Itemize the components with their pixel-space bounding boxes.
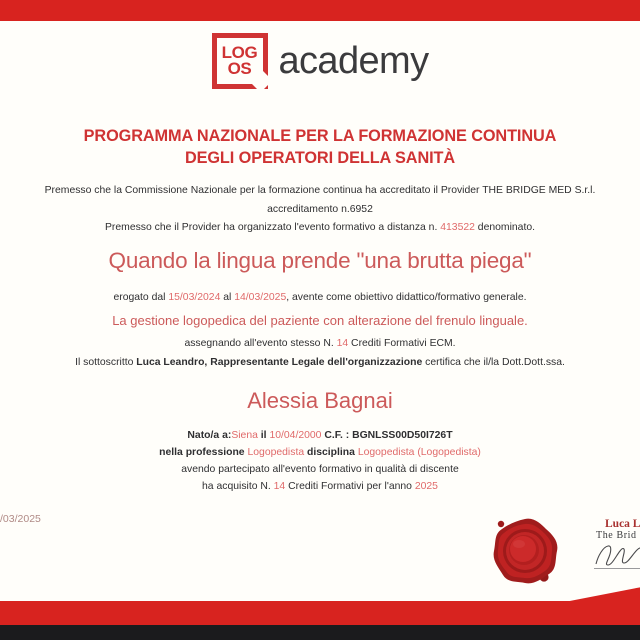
issue-date: /03/2025 (0, 513, 41, 525)
certificate-page: LOG OS academy PROGRAMMA NAZIONALE PER L… (0, 0, 640, 640)
born-on-label: il (258, 430, 270, 441)
acquired-credits: 14 (274, 481, 286, 492)
preamble-text: Premesso che la Commissione Nazionale pe… (0, 182, 640, 238)
signatory-suffix: certifica che il/la Dott.Dott.ssa. (422, 357, 565, 368)
heading-line-2: DEGLI OPERATORI DELLA SANITÀ (0, 148, 640, 170)
signature-organization: The Brid (594, 530, 640, 541)
discipline-value: Logopedista (Logopedista) (358, 447, 481, 458)
heading-line-1: PROGRAMMA NAZIONALE PER LA FORMAZIONE CO… (0, 126, 640, 148)
top-red-band (0, 0, 640, 21)
event-end-date: 14/03/2025 (234, 292, 286, 303)
signature-block: Luca L The Brid (594, 518, 640, 569)
recipient-profession-line: nella professione Logopedista disciplina… (0, 445, 640, 462)
born-label: Nato/a a: (187, 430, 231, 441)
logo-notch (248, 68, 272, 92)
event-objective: La gestione logopedica del paziente con … (0, 313, 640, 328)
erogato-after: , avente come obiettivo didattico/format… (286, 292, 526, 303)
event-title: Quando la lingua prende "una brutta pieg… (0, 248, 640, 274)
handwritten-signature-icon (594, 542, 640, 568)
preamble-line-3: Premesso che il Provider ha organizzato … (0, 219, 640, 238)
signatory-statement: Il sottoscritto Luca Leandro, Rappresent… (0, 357, 640, 368)
acquired-middle: Crediti Formativi per l'anno (285, 481, 415, 492)
certificate-paper (0, 21, 640, 601)
cf-label: C.F. : (321, 430, 352, 441)
brand-logo: LOG OS academy (0, 33, 640, 89)
credits-before: assegnando all'evento stesso N. (184, 338, 336, 349)
logo-mark-line2: OS (228, 61, 252, 77)
erogato-before: erogato dal (113, 292, 168, 303)
recipient-acquired-line: ha acquisito N. 14 Crediti Formativi per… (0, 479, 640, 496)
preamble-line-3-before: Premesso che il Provider ha organizzato … (105, 222, 440, 233)
recipient-details: Nato/a a:Siena il 10/04/2000 C.F. : BGNL… (0, 428, 640, 495)
signatory-name-role: Luca Leandro, Rappresentante Legale dell… (136, 357, 422, 368)
profession-value: Logopedista (247, 447, 304, 458)
acquired-year: 2025 (415, 481, 438, 492)
signature-name: Luca L (594, 518, 640, 530)
event-number: 413522 (440, 222, 475, 233)
recipient-name: Alessia Bagnai (0, 388, 640, 414)
event-start-date: 15/03/2024 (168, 292, 220, 303)
signature-rule (594, 568, 640, 569)
event-credits-line: assegnando all'evento stesso N. 14 Credi… (0, 338, 640, 349)
logos-mark-icon: LOG OS (212, 33, 268, 89)
signatory-prefix: Il sottoscritto (75, 357, 136, 368)
bottom-red-band (0, 601, 640, 625)
cf-value: BGNLSS00D50I726T (352, 430, 453, 441)
wax-seal-icon (489, 515, 561, 587)
erogato-middle: al (220, 292, 234, 303)
logo-wordmark: academy (279, 40, 429, 83)
page-title: PROGRAMMA NAZIONALE PER LA FORMAZIONE CO… (0, 126, 640, 169)
corner-red-wedge (554, 585, 640, 603)
preamble-line-3-after: denominato. (475, 222, 535, 233)
recipient-participation-line: avendo partecipato all'evento formativo … (0, 462, 640, 479)
acquired-before: ha acquisito N. (202, 481, 274, 492)
recipient-birth-line: Nato/a a:Siena il 10/04/2000 C.F. : BGNL… (0, 428, 640, 445)
preamble-line-2: accreditamento n.6952 (0, 201, 640, 220)
credits-after: Crediti Formativi ECM. (348, 338, 455, 349)
birth-date: 10/04/2000 (269, 430, 321, 441)
discipline-label: disciplina (304, 447, 358, 458)
credits-value: 14 (337, 338, 349, 349)
birth-place: Siena (231, 430, 258, 441)
profession-label: nella professione (159, 447, 247, 458)
event-period-line: erogato dal 15/03/2024 al 14/03/2025, av… (0, 290, 640, 307)
preamble-line-1: Premesso che la Commissione Nazionale pe… (0, 182, 640, 201)
